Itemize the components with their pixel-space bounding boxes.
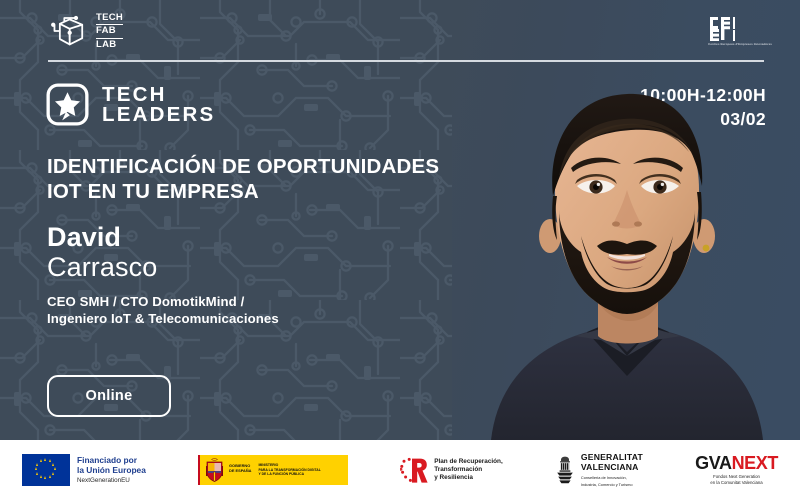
eu-line2: la Unión Europea [77,465,146,475]
speaker-photo [455,0,800,440]
speaker-role-line1: CEO SMH / CTO DomotikMind / [47,293,279,310]
event-poster: TECH FAB LAB Ce [0,0,800,500]
prtr-r-mark-icon [400,457,428,484]
prtr-text: Plan de Recuperación, Transformación y R… [434,458,503,483]
session-title-line2: IOT EN TU EMPRESA [47,180,467,205]
brand-line2: LEADERS [102,105,215,125]
gva-next-logo: GVANEXT Fondos Next Generation en la Com… [695,454,778,485]
prtr-line3: y Resiliencia [434,474,503,482]
session-title-line1: IDENTIFICACIÓN DE OPORTUNIDADES [47,155,467,180]
spain-coat-of-arms-icon [205,458,224,482]
gva-next-wordmark: GVANEXT [695,454,778,473]
funding-footer: Financiado por la Unión Europea NextGene… [0,440,800,500]
eu-funding-text: Financiado por la Unión Europea NextGene… [77,455,146,485]
eu-flag-icon [22,454,70,486]
techfablab-line1: TECH [96,13,123,23]
techfablab-line2: FAB [96,26,123,36]
eu-line3: NextGenerationEU [77,476,146,485]
generalitat-text: GENERALITAT VALENCIANA Conselleria de In… [581,453,643,487]
tech-leaders-wordmark: TECH LEADERS [102,85,215,125]
gva-next-line2: en la Comunitat Valenciana [695,480,778,486]
speaker-first-name: David [47,222,279,252]
prtr-line2: Transformación [434,466,503,474]
prtr-line1: Plan de Recuperación, [434,458,503,466]
speaker-portrait-illustration [455,40,800,440]
brand-line1: TECH [102,85,215,105]
generalitat-valenciana-logo: GENERALITAT VALENCIANA Conselleria de In… [555,453,643,487]
cube-box-icon [45,14,89,48]
conselleria-line2: Industria, Comercio y Turismo [581,482,643,487]
speaker-role: CEO SMH / CTO DomotikMind / Ingeniero Io… [47,293,279,327]
format-badge-online: Online [47,375,171,417]
eu-line1: Financiado por [77,455,146,465]
plan-recuperacion-logo: Plan de Recuperación, Transformación y R… [400,457,503,484]
techfablab-wordmark: TECH FAB LAB [96,13,123,50]
eu-funding-logo: Financiado por la Unión Europea NextGene… [22,454,146,486]
gobierno-de-espana-logo: GOBIERNO DE ESPAÑA MINISTERIO PARA LA TR… [198,455,348,485]
star-in-rounded-square-icon [46,83,89,126]
generalitat-line2: VALENCIANA [581,463,643,473]
generalitat-crest-icon [555,456,575,484]
tech-leaders-logo: TECH LEADERS [46,83,215,126]
format-badge-label: Online [86,388,133,404]
gva-next-subtitle: Fondos Next Generation en la Comunitat V… [695,474,778,485]
gva-next-word-b: NEXT [732,453,778,473]
gobierno-line2: DE ESPAÑA [229,468,251,473]
session-title: IDENTIFICACIÓN DE OPORTUNIDADES IOT EN T… [47,155,467,204]
ministerio-line3: Y DE LA FUNCIÓN PÚBLICA [258,472,320,477]
speaker-role-line2: Ingeniero IoT & Telecomunicaciones [47,310,279,327]
techfablab-line3: LAB [96,40,123,50]
gva-next-word-a: GVA [695,453,731,473]
techfablab-logo: TECH FAB LAB [45,13,123,50]
speaker-block: David Carrasco CEO SMH / CTO DomotikMind… [47,222,279,327]
conselleria-line1: Conselleria de Innovación, [581,475,643,480]
speaker-last-name: Carrasco [47,252,279,282]
